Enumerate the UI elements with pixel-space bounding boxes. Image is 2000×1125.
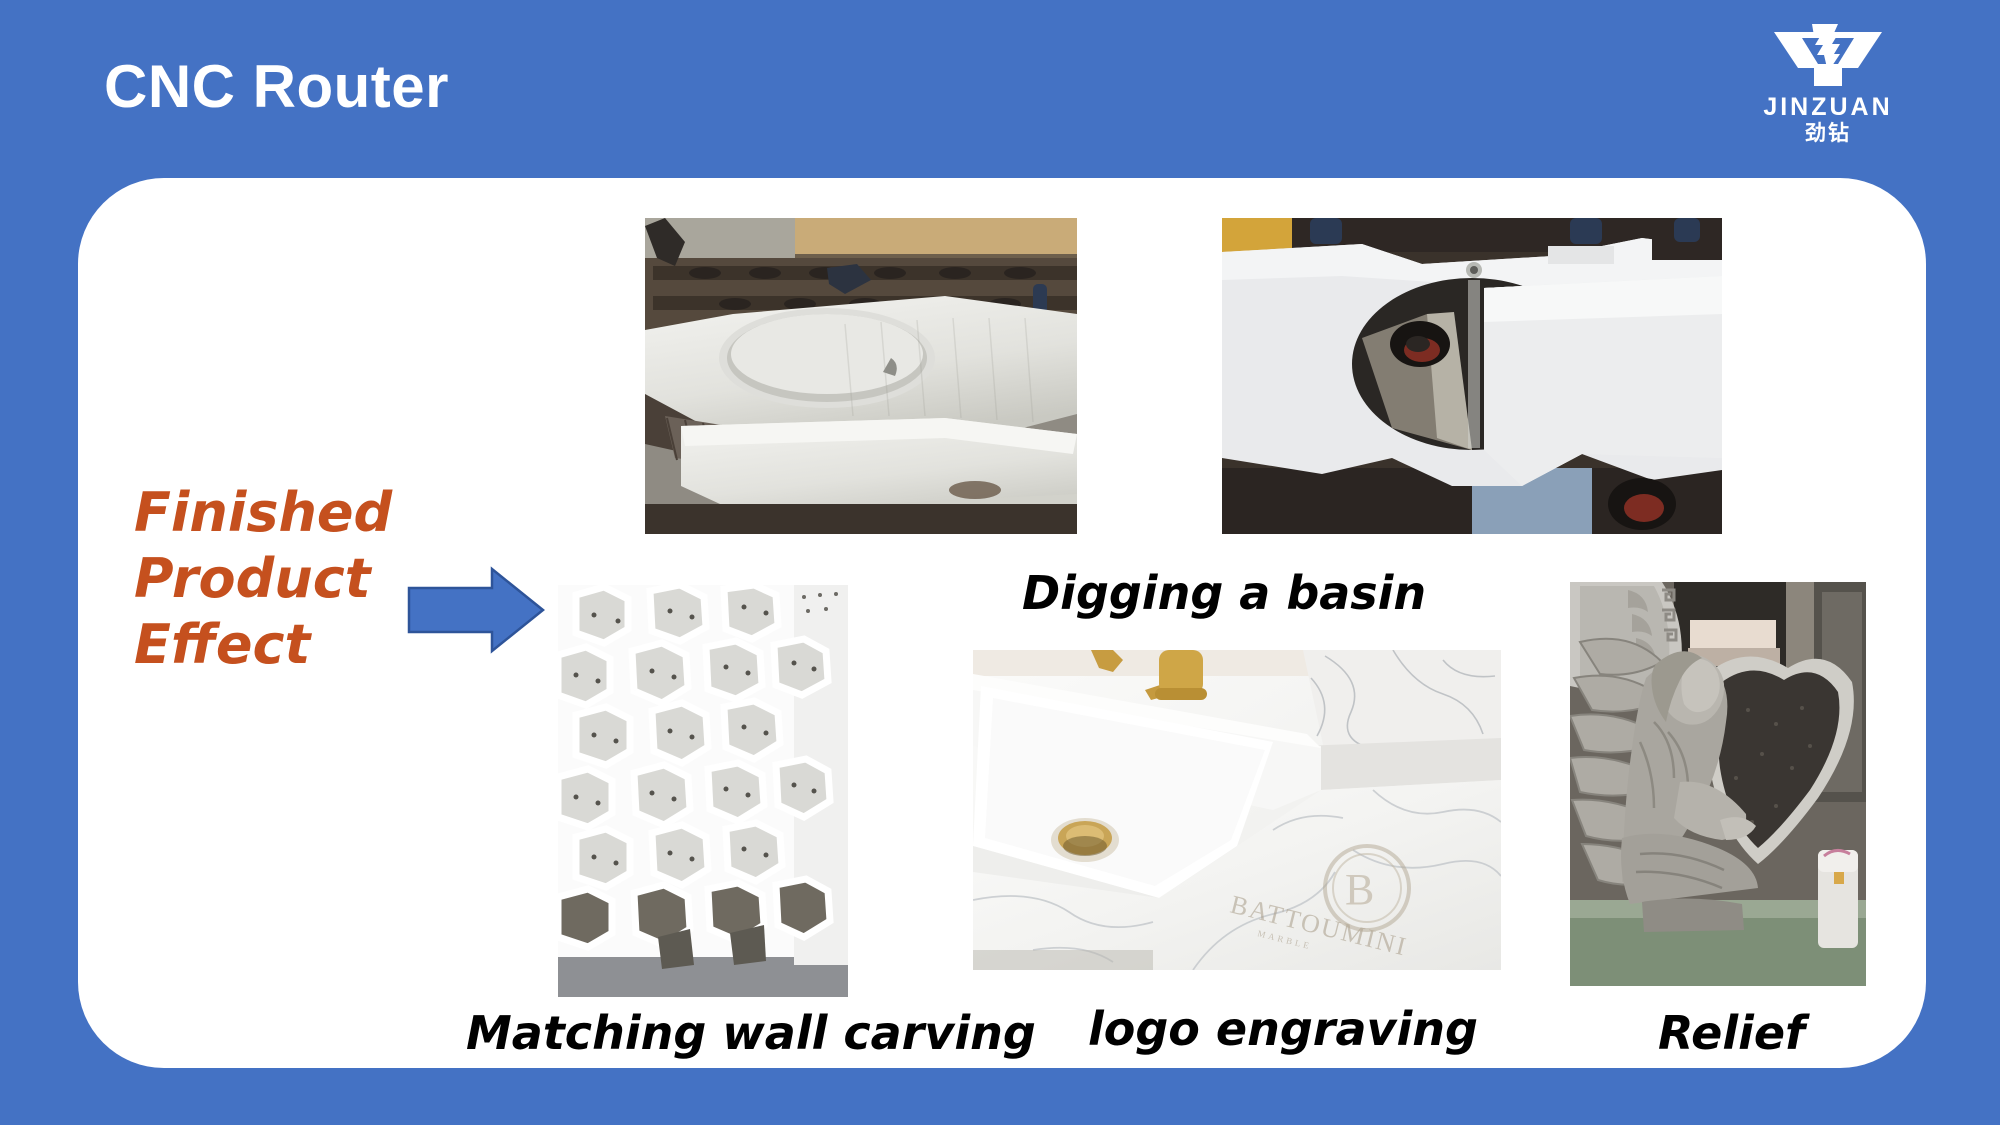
callout-line-2: Product bbox=[134, 546, 404, 612]
page-title: CNC Router bbox=[104, 52, 449, 121]
caption-digging-a-basin: Digging a basin bbox=[1022, 570, 1426, 616]
basin-hole-image bbox=[1222, 218, 1722, 534]
logo-wordmark: JINZUAN bbox=[1763, 95, 1892, 120]
photo-cnc-basin-cut bbox=[645, 218, 1077, 534]
right-block-arrow-icon bbox=[406, 566, 546, 654]
callout-line-1: Finished bbox=[134, 480, 404, 546]
cnc-basin-cut-image bbox=[645, 218, 1077, 534]
svg-text:B: B bbox=[1345, 865, 1374, 914]
caption-relief: Relief bbox=[1658, 1010, 1805, 1056]
logo-chinese-name: 劲钻 bbox=[1805, 123, 1851, 144]
brand-logo: JINZUAN 劲钻 bbox=[1728, 24, 1928, 152]
caption-logo-engraving: logo engraving bbox=[1088, 1006, 1478, 1052]
relief-image bbox=[1570, 582, 1866, 986]
finished-product-effect-label: Finished Product Effect bbox=[134, 480, 404, 678]
wall-carving-image bbox=[558, 585, 848, 997]
slide-canvas: CNC Router JINZUAN 劲钻 Finished Product E… bbox=[0, 0, 2000, 1125]
photo-logo-engraving: BATTOUMINI MARBLE B bbox=[973, 650, 1501, 970]
jinzuan-mark-icon bbox=[1772, 24, 1884, 94]
photo-basin-hole bbox=[1222, 218, 1722, 534]
caption-matching-wall-carving: Matching wall carving bbox=[466, 1010, 1036, 1056]
callout-line-3: Effect bbox=[134, 612, 404, 678]
photo-wall-carving bbox=[558, 585, 848, 997]
photo-relief bbox=[1570, 582, 1866, 986]
logo-engraving-image: BATTOUMINI MARBLE B bbox=[973, 650, 1501, 970]
